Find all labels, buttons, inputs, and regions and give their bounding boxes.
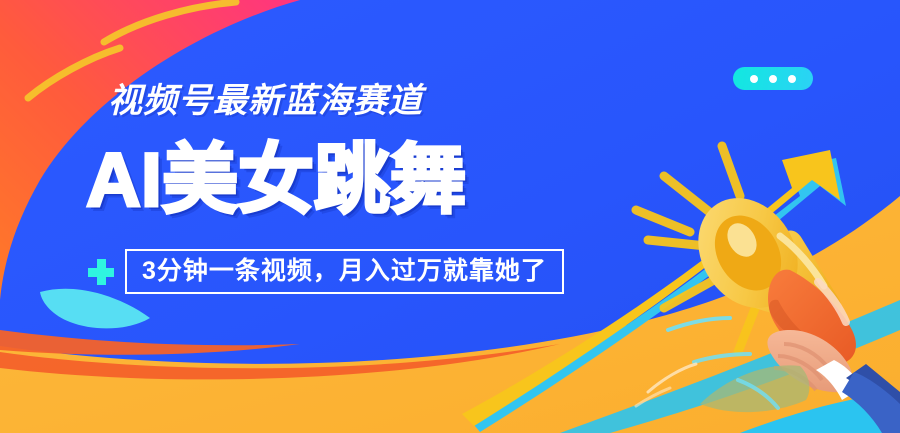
page-title: AI美女跳舞 — [86, 143, 466, 219]
pill-dot-2 — [769, 75, 777, 83]
plus-icon — [88, 259, 114, 285]
kicker-headline: 视频号最新蓝海赛道 — [108, 84, 423, 118]
subtitle-box: 3分钟一条视频，月入过万就靠她了 — [125, 249, 564, 294]
pill-dot-1 — [750, 75, 758, 83]
dots-pill-badge — [733, 67, 813, 90]
subtitle-text: 3分钟一条视频，月入过万就靠她了 — [142, 259, 547, 284]
subtitle-row: 3分钟一条视频，月入过万就靠她了 — [88, 249, 564, 294]
pill-dot-3 — [788, 75, 796, 83]
promo-poster: 视频号最新蓝海赛道 AI美女跳舞 3分钟一条视频，月入过万就靠她了 — [0, 0, 900, 433]
